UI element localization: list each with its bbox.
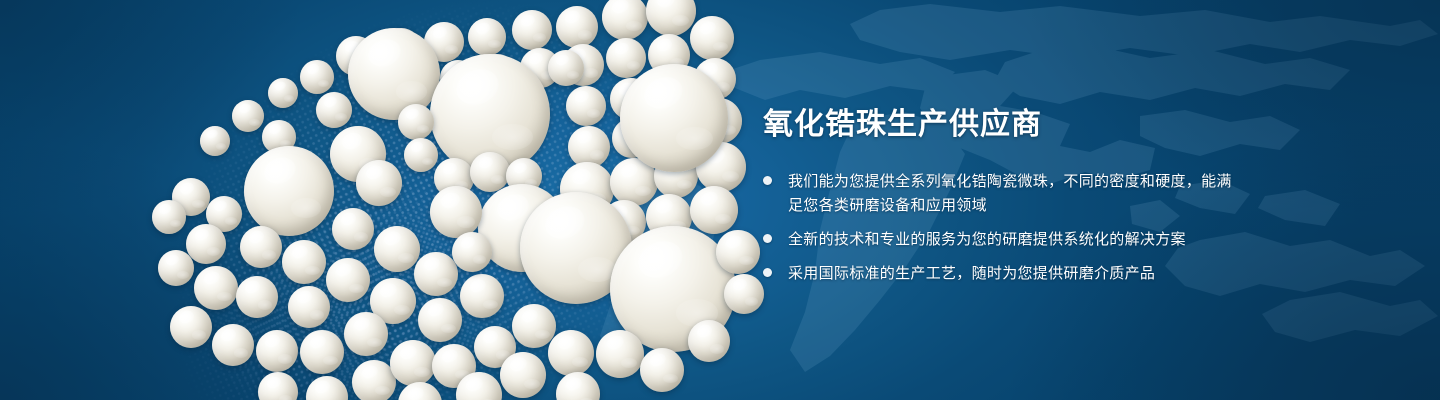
list-item-label: 全新的技术和专业的服务为您的研磨提供系统化的解决方案: [788, 228, 1186, 252]
page-title: 氧化锆珠生产供应商: [763, 106, 1233, 144]
list-item-label: 采用国际标准的生产工艺，随时为您提供研磨介质产品: [788, 262, 1155, 286]
feature-list: 我们能为您提供全系列氧化锆陶瓷微珠，不同的密度和硬度，能满足您各类研磨设备和应用…: [763, 170, 1233, 286]
list-item-label: 我们能为您提供全系列氧化锆陶瓷微珠，不同的密度和硬度，能满足您各类研磨设备和应用…: [788, 170, 1233, 218]
list-item: 采用国际标准的生产工艺，随时为您提供研磨介质产品: [763, 262, 1233, 286]
bullet-dot-icon: [763, 176, 772, 185]
list-item: 我们能为您提供全系列氧化锆陶瓷微珠，不同的密度和硬度，能满足您各类研磨设备和应用…: [763, 170, 1233, 218]
list-item: 全新的技术和专业的服务为您的研磨提供系统化的解决方案: [763, 228, 1233, 252]
bullet-dot-icon: [763, 234, 772, 243]
banner-copy: 氧化锆珠生产供应商 我们能为您提供全系列氧化锆陶瓷微珠，不同的密度和硬度，能满足…: [763, 106, 1233, 286]
bullet-dot-icon: [763, 268, 772, 277]
hero-banner: 氧化锆珠生产供应商 我们能为您提供全系列氧化锆陶瓷微珠，不同的密度和硬度，能满足…: [0, 0, 1440, 400]
